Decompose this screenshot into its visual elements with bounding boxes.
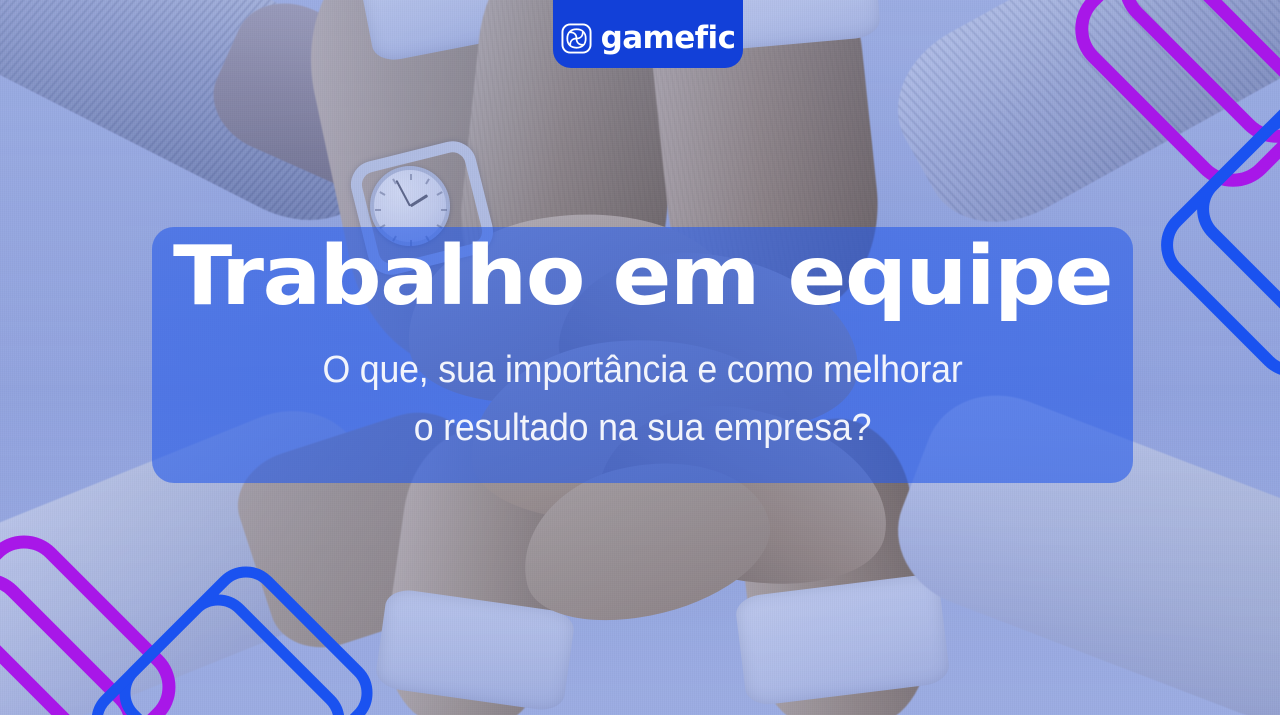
subtitle-line-1: O que, sua importância e como melhorar [181,351,1103,389]
social-banner: gamefic Trabalho em equipe O que, sua im… [0,0,1280,715]
logo-wordmark: gamefic [601,23,736,54]
page-title: Trabalho em equipe [123,235,1163,319]
subtitle-line-2: o resultado na sua empresa? [181,409,1103,447]
gamefic-logo-badge[interactable]: gamefic [553,0,743,68]
aperture-icon [561,23,592,54]
headline-panel: Trabalho em equipe O que, sua importânci… [152,227,1133,483]
